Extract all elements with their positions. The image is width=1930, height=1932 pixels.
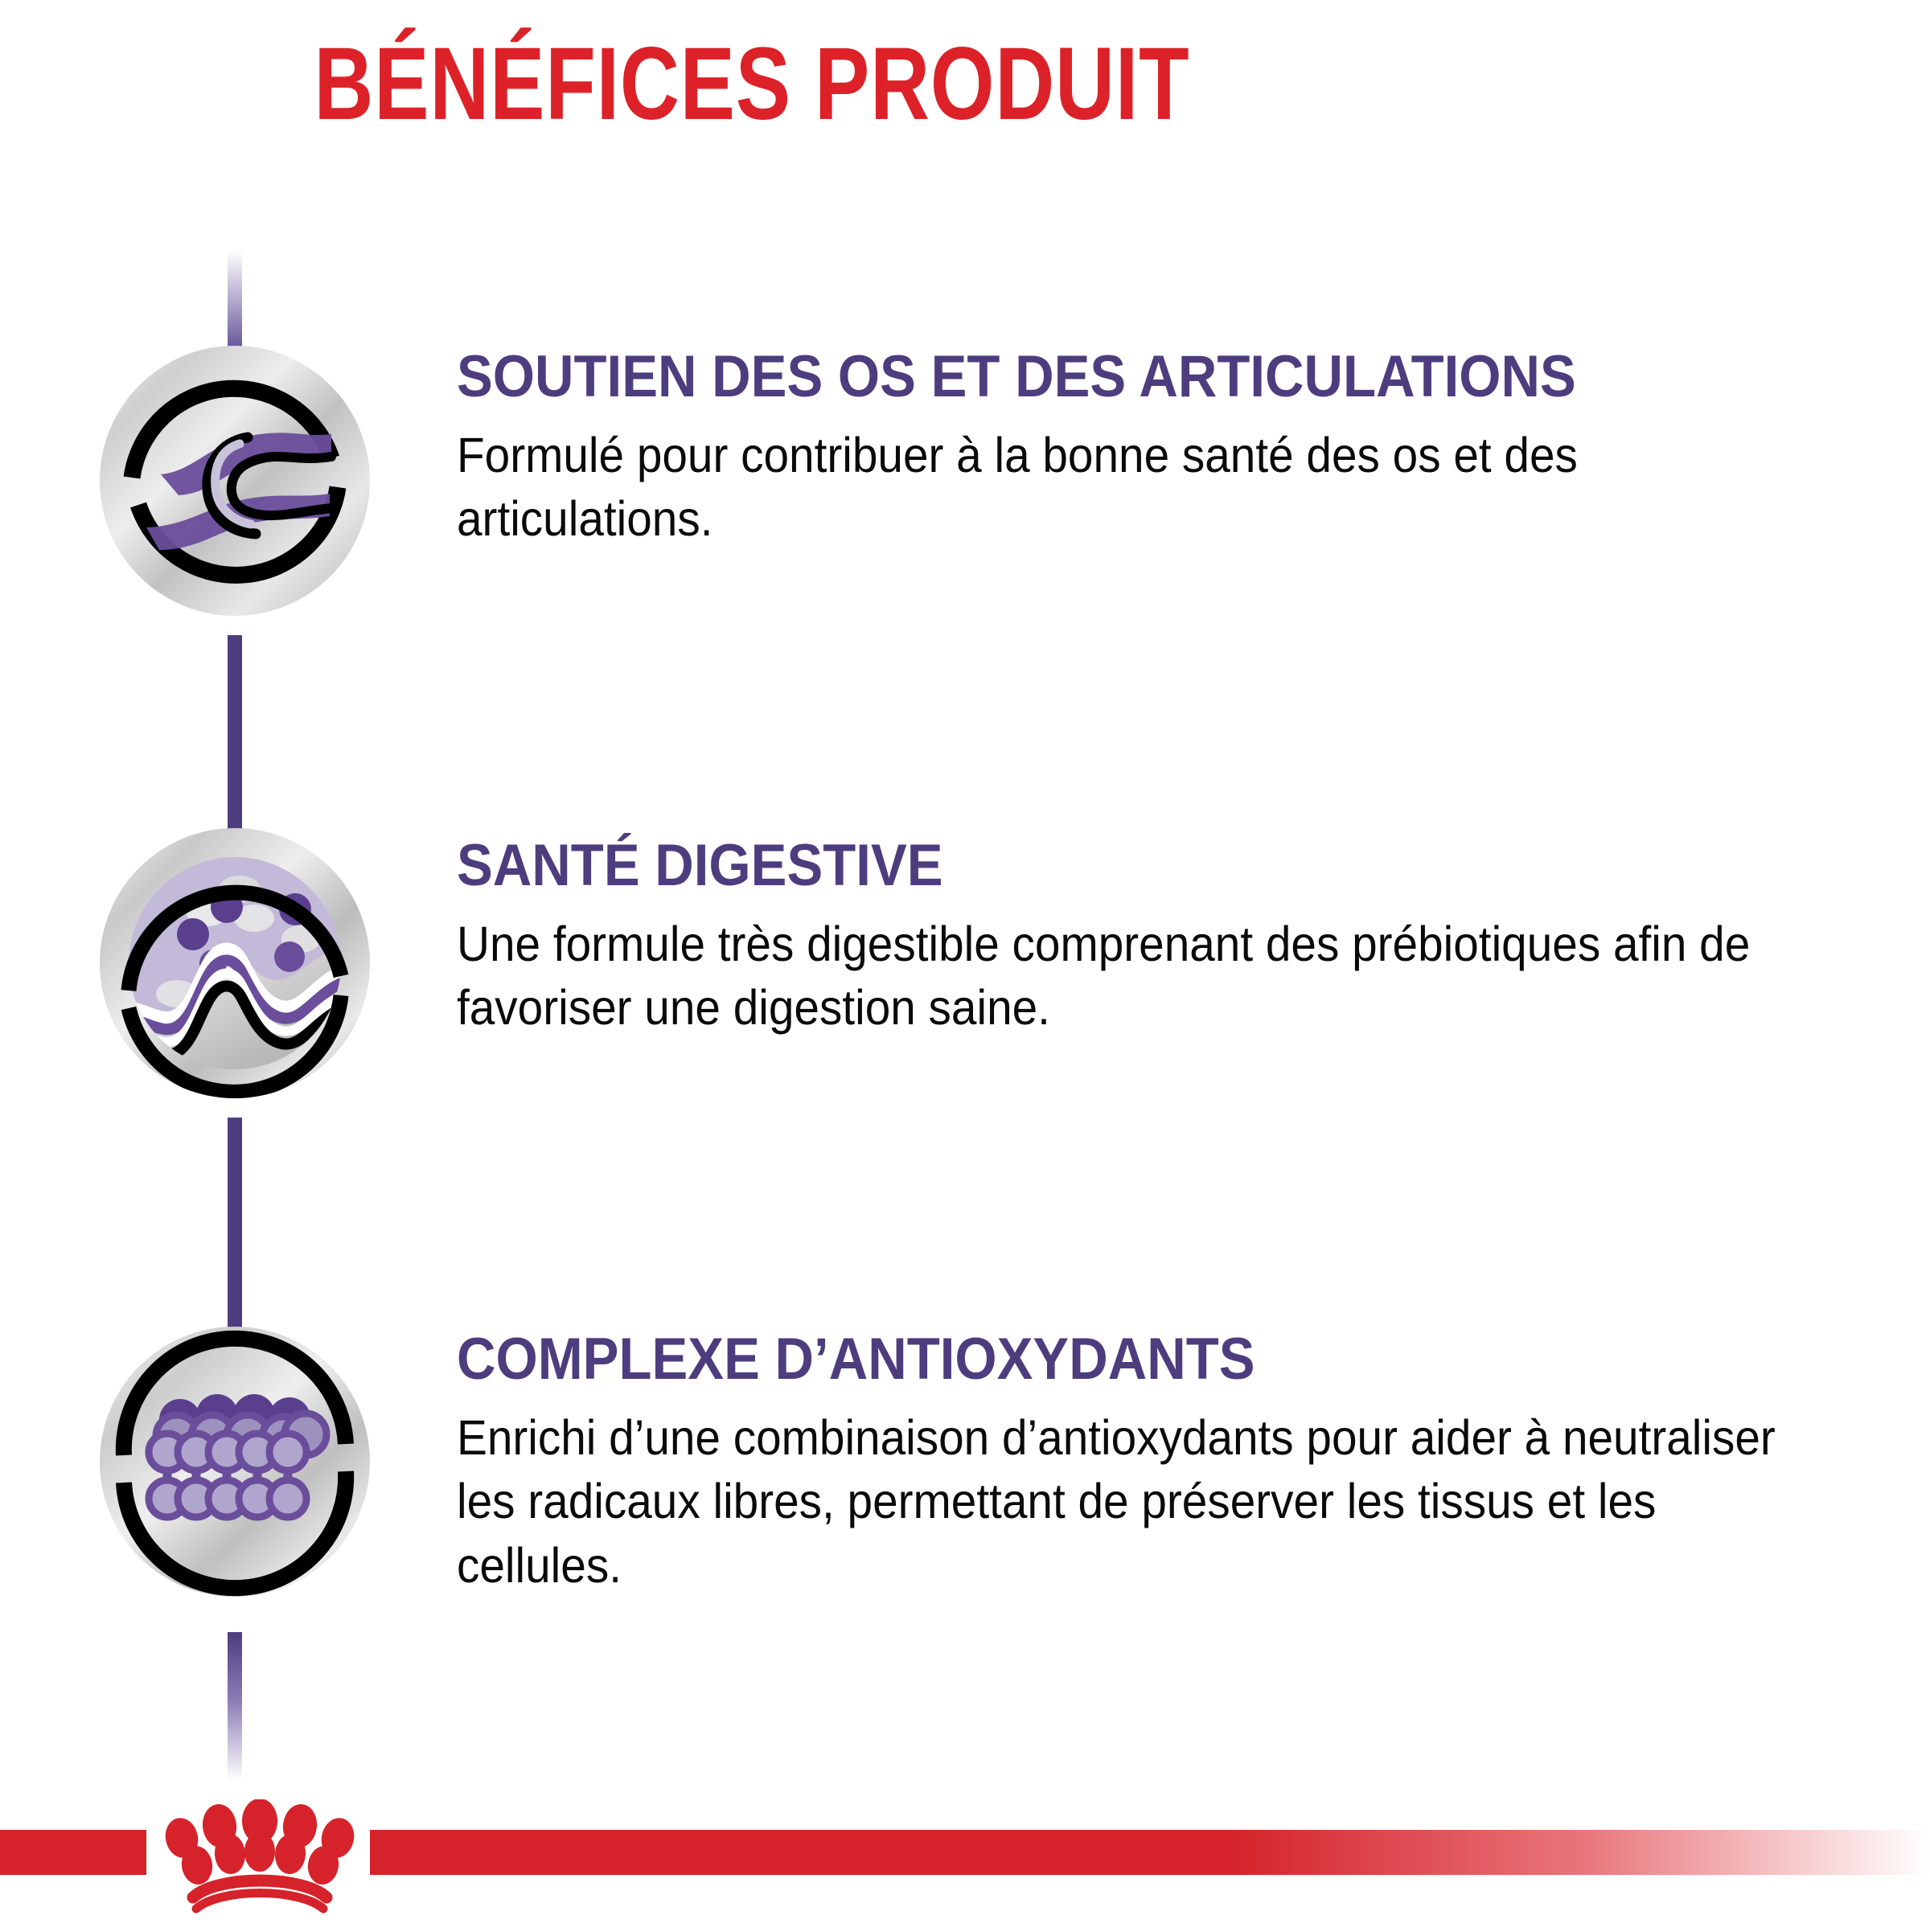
footer-bar-right (370, 1830, 1930, 1875)
benefit-body: Formulé pour contribuer à la bonne santé… (457, 424, 1796, 552)
benefit-heading: SOUTIEN DES OS ET DES ARTICULATIONS (457, 347, 1781, 406)
benefit-heading: COMPLEXE D’ANTIOXYDANTS (457, 1330, 1781, 1388)
benefit-text-bones-joints: SOUTIEN DES OS ET DES ARTICULATIONS Form… (457, 347, 1896, 552)
benefit-text-antioxidant-complex: COMPLEXE D’ANTIOXYDANTS Enrichi d’une co… (457, 1330, 1896, 1598)
page-title: BÉNÉFICES PRODUIT (150, 31, 1353, 138)
royal-canin-crown-logo (143, 1799, 376, 1920)
footer-bar-left (0, 1830, 146, 1875)
benefit-body: Une formule très digestible comprenant d… (457, 913, 1796, 1040)
bone-joint-icon (90, 336, 380, 626)
benefit-text-digestive-health: SANTÉ DIGESTIVE Une formule très digesti… (457, 836, 1896, 1040)
benefit-body: Enrichi d’une combinaison d’antioxydants… (457, 1406, 1796, 1598)
footer (0, 1799, 1930, 1932)
benefit-heading: SANTÉ DIGESTIVE (457, 836, 1781, 895)
digestive-health-icon (90, 818, 380, 1108)
timeline-rail-segment-2 (228, 1118, 242, 1343)
antioxidant-cell-membrane-icon (90, 1317, 380, 1606)
timeline-rail-bottom (228, 1632, 242, 1781)
